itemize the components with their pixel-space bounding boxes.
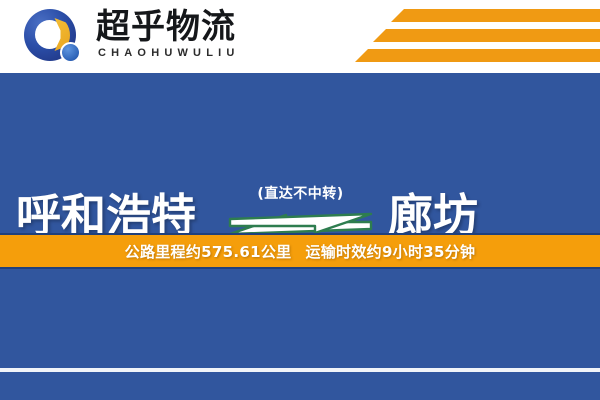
logistics-route-poster: 超乎物流 CHAOHUWULIU 呼和浩特 (直达不中转) 【往返运输】 廊坊 … bbox=[0, 0, 600, 400]
brand-name-cn: 超乎物流 bbox=[96, 8, 240, 46]
brand-logo bbox=[24, 7, 86, 67]
distance-label: 公路里程约575.61公里 bbox=[125, 241, 292, 262]
stripe-1 bbox=[391, 9, 600, 22]
poster-header: 超乎物流 CHAOHUWULIU bbox=[0, 0, 600, 73]
brand-text-block: 超乎物流 CHAOHUWULIU bbox=[96, 8, 240, 59]
road-line bbox=[0, 368, 600, 372]
coverage-band: 安次区、广阳区、固安县、永清县、香河县、大城县、文安县、大厂回族自治县、霸州市、… bbox=[0, 269, 600, 400]
duration-label: 运输时效约9小时35分钟 bbox=[305, 241, 475, 262]
route-info-bar: 公路里程约575.61公里 运输时效约9小时35分钟 bbox=[0, 233, 600, 269]
route-band: 呼和浩特 (直达不中转) 【往返运输】 廊坊 bbox=[0, 73, 600, 233]
stripe-3 bbox=[355, 49, 600, 62]
direct-service-note: (直达不中转) bbox=[228, 183, 373, 203]
stripe-2 bbox=[373, 29, 600, 42]
logo-dot-icon bbox=[60, 42, 81, 63]
speed-stripes-icon bbox=[350, 9, 600, 65]
brand-name-en: CHAOHUWULIU bbox=[98, 47, 240, 59]
